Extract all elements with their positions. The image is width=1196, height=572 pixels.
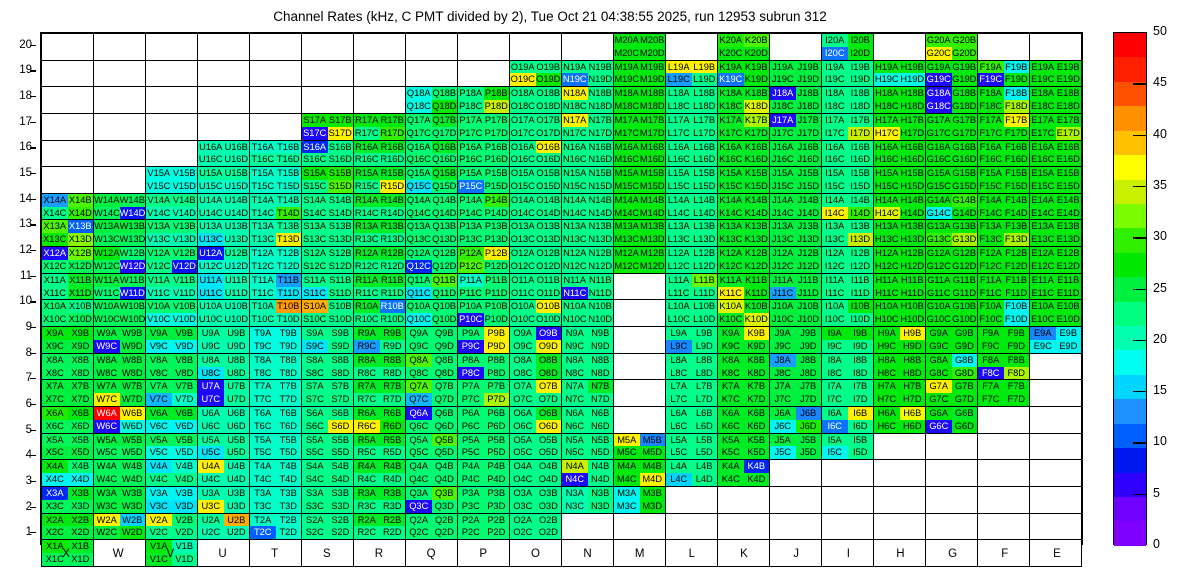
channel-W8D[interactable]: W8D	[120, 367, 146, 380]
channel-I15B[interactable]: I15B	[848, 167, 874, 180]
channel-Q2B[interactable]: Q2B	[432, 514, 458, 527]
heatmap-cell-U12[interactable]: U12AU12BU12CU12D	[198, 247, 250, 274]
channel-I18B[interactable]: I18B	[848, 87, 874, 100]
heatmap-cell-N6[interactable]: N6AN6BN6CN6D	[562, 406, 614, 433]
heatmap-cell-T8[interactable]: T8AT8BT8CT8D	[250, 353, 302, 380]
heatmap-cell-Q6[interactable]: Q6AQ6BQ6CQ6D	[406, 406, 458, 433]
heatmap-cell-G20[interactable]: G20AG20BG20CG20D	[926, 34, 978, 61]
channel-L18C[interactable]: L18C	[666, 100, 692, 113]
channel-W12B[interactable]: W12B	[120, 247, 146, 260]
heatmap-cell-I9[interactable]: I9AI9BI9CI9D	[822, 327, 874, 354]
channel-S3A[interactable]: S3A	[302, 487, 328, 500]
heatmap-cell-P13[interactable]: P13AP13BP13CP13D	[458, 220, 510, 247]
channel-T15B[interactable]: T15B	[276, 167, 302, 180]
heatmap-cell-L5[interactable]: L5AL5BL5CL5D	[666, 433, 718, 460]
channel-N15B[interactable]: N15B	[588, 167, 614, 180]
channel-H19B[interactable]: H19B	[900, 61, 926, 74]
heatmap-cell-N4[interactable]: N4AN4BN4CN4D	[562, 460, 614, 487]
heatmap-cell-J16[interactable]: J16AJ16BJ16CJ16D	[770, 140, 822, 167]
channel-H8D[interactable]: H8D	[900, 367, 926, 380]
channel-T14A[interactable]: T14A	[250, 194, 276, 207]
channel-G16A[interactable]: G16A	[926, 141, 952, 154]
channel-I16C[interactable]: I16C	[822, 153, 848, 166]
heatmap-cell-E12[interactable]: E12AE12BE12CE12D	[1030, 247, 1082, 274]
heatmap-cell-W12[interactable]: W12AW12BW12CW12D	[94, 247, 146, 274]
channel-Q12A[interactable]: Q12A	[406, 247, 432, 260]
channel-E15C[interactable]: E15C	[1030, 180, 1056, 193]
channel-O13B[interactable]: O13B	[536, 220, 562, 233]
channel-S11A[interactable]: S11A	[302, 274, 328, 287]
channel-T12B[interactable]: T12B	[276, 247, 302, 260]
channel-F19C[interactable]: F19C	[978, 73, 1004, 86]
heatmap-cell-X2[interactable]: X2AX2BX2CX2D	[42, 513, 94, 540]
heatmap-cell-T6[interactable]: T6AT6BT6CT6D	[250, 406, 302, 433]
channel-X14D[interactable]: X14D	[68, 207, 94, 220]
heatmap-cell-S9[interactable]: S9AS9BS9CS9D	[302, 327, 354, 354]
channel-M12C[interactable]: M12C	[614, 260, 640, 273]
heatmap-cell-R20[interactable]	[354, 34, 406, 61]
heatmap-cell-K7[interactable]: K7AK7BK7CK7D	[718, 380, 770, 407]
channel-U14C[interactable]: U14C	[198, 207, 224, 220]
channel-R9C[interactable]: R9C	[354, 340, 380, 353]
channel-H16D[interactable]: H16D	[900, 153, 926, 166]
heatmap-cell-H20[interactable]	[874, 34, 926, 61]
channel-Q16A[interactable]: Q16A	[406, 141, 432, 154]
channel-E16B[interactable]: E16B	[1056, 141, 1082, 154]
channel-U13B[interactable]: U13B	[224, 220, 250, 233]
heatmap-cell-S16[interactable]: S16AS16BS16CS16D	[302, 140, 354, 167]
channel-H10C[interactable]: H10C	[874, 313, 900, 326]
channel-W14D[interactable]: W14D	[120, 207, 146, 220]
heatmap-cell-W17[interactable]	[94, 113, 146, 140]
channel-T6A[interactable]: T6A	[250, 407, 276, 420]
channel-H9D[interactable]: H9D	[900, 340, 926, 353]
channel-R5C[interactable]: R5C	[354, 446, 380, 459]
channel-R4C[interactable]: R4C	[354, 473, 380, 486]
channel-O9D[interactable]: O9D	[536, 340, 562, 353]
channel-Q10B[interactable]: Q10B	[432, 300, 458, 313]
channel-P17A[interactable]: P17A	[458, 114, 484, 127]
channel-Q8C[interactable]: Q8C	[406, 367, 432, 380]
channel-E16A[interactable]: E16A	[1030, 141, 1056, 154]
channel-G6C[interactable]: G6C	[926, 420, 952, 433]
channel-O14B[interactable]: O14B	[536, 194, 562, 207]
channel-V6B[interactable]: V6B	[172, 407, 198, 420]
channel-W9D[interactable]: W9D	[120, 340, 146, 353]
channel-N14A[interactable]: N14A	[562, 194, 588, 207]
channel-K20D[interactable]: K20D	[744, 47, 770, 60]
heatmap-cell-O16[interactable]: O16AO16BO16CO16D	[510, 140, 562, 167]
channel-S14A[interactable]: S14A	[302, 194, 328, 207]
channel-N12B[interactable]: N12B	[588, 247, 614, 260]
heatmap-cell-O15[interactable]: O15AO15BO15CO15D	[510, 167, 562, 194]
channel-L19D[interactable]: L19D	[692, 73, 718, 86]
channel-I6D[interactable]: I6D	[848, 420, 874, 433]
channel-E13A[interactable]: E13A	[1030, 220, 1056, 233]
heatmap-cell-E3[interactable]	[1030, 486, 1082, 513]
channel-S13B[interactable]: S13B	[328, 220, 354, 233]
heatmap-cell-E4[interactable]	[1030, 460, 1082, 487]
channel-H18D[interactable]: H18D	[900, 100, 926, 113]
channel-I17D[interactable]: I17D	[848, 127, 874, 140]
channel-O7B[interactable]: O7B	[536, 380, 562, 393]
channel-X4D[interactable]: X4D	[68, 473, 94, 486]
heatmap-cell-F9[interactable]: F9AF9BF9CF9D	[978, 327, 1030, 354]
channel-G16B[interactable]: G16B	[952, 141, 978, 154]
heatmap-cell-S10[interactable]: S10AS10BS10CS10D	[302, 300, 354, 327]
heatmap-cell-T13[interactable]: T13AT13BT13CT13D	[250, 220, 302, 247]
heatmap-cell-E20[interactable]	[1030, 34, 1082, 61]
channel-V12B[interactable]: V12B	[172, 247, 198, 260]
channel-U4D[interactable]: U4D	[224, 473, 250, 486]
channel-H11C[interactable]: H11C	[874, 287, 900, 300]
channel-P9B[interactable]: P9B	[484, 327, 510, 340]
channel-Q10A[interactable]: Q10A	[406, 300, 432, 313]
heatmap-cell-H7[interactable]: H7AH7BH7CH7D	[874, 380, 926, 407]
channel-P10B[interactable]: P10B	[484, 300, 510, 313]
channel-K9B[interactable]: K9B	[744, 327, 770, 340]
channel-T16C[interactable]: T16C	[250, 153, 276, 166]
heatmap-cell-Q19[interactable]	[406, 60, 458, 87]
channel-U2C[interactable]: U2C	[198, 526, 224, 539]
heatmap-cell-I4[interactable]	[822, 460, 874, 487]
channel-L14C[interactable]: L14C	[666, 207, 692, 220]
heatmap-cell-W16[interactable]	[94, 140, 146, 167]
channel-P8A[interactable]: P8A	[458, 354, 484, 367]
heatmap-cell-L18[interactable]: L18AL18BL18CL18D	[666, 87, 718, 114]
channel-V14C[interactable]: V14C	[146, 207, 172, 220]
channel-J16B[interactable]: J16B	[796, 141, 822, 154]
heatmap-cell-O3[interactable]: O3AO3BO3CO3D	[510, 486, 562, 513]
channel-N7D[interactable]: N7D	[588, 393, 614, 406]
channel-P14D[interactable]: P14D	[484, 207, 510, 220]
channel-V3A[interactable]: V3A	[146, 487, 172, 500]
channel-U3A[interactable]: U3A	[198, 487, 224, 500]
channel-L11C[interactable]: L11C	[666, 287, 692, 300]
channel-U15B[interactable]: U15B	[224, 167, 250, 180]
channel-F11B[interactable]: F11B	[1004, 274, 1030, 287]
channel-N13D[interactable]: N13D	[588, 233, 614, 246]
channel-Q5A[interactable]: Q5A	[406, 434, 432, 447]
channel-E18B[interactable]: E18B	[1056, 87, 1082, 100]
channel-H14C[interactable]: H14C	[874, 207, 900, 220]
channel-O8D[interactable]: O8D	[536, 367, 562, 380]
heatmap-cell-T4[interactable]: T4AT4BT4CT4D	[250, 460, 302, 487]
channel-G15A[interactable]: G15A	[926, 167, 952, 180]
channel-S3C[interactable]: S3C	[302, 500, 328, 513]
channel-N14B[interactable]: N14B	[588, 194, 614, 207]
heatmap-cell-O6[interactable]: O6AO6BO6CO6D	[510, 406, 562, 433]
channel-L6C[interactable]: L6C	[666, 420, 692, 433]
heatmap-cell-G16[interactable]: G16AG16BG16CG16D	[926, 140, 978, 167]
channel-O11C[interactable]: O11C	[510, 287, 536, 300]
channel-I5D[interactable]: I5D	[848, 446, 874, 459]
channel-K9D[interactable]: K9D	[744, 340, 770, 353]
channel-M5C[interactable]: M5C	[614, 446, 640, 459]
heatmap-cell-L3[interactable]	[666, 486, 718, 513]
channel-M15B[interactable]: M15B	[640, 167, 666, 180]
channel-N17D[interactable]: N17D	[588, 127, 614, 140]
heatmap-cell-E15[interactable]: E15AE15BE15CE15D	[1030, 167, 1082, 194]
channel-K19C[interactable]: K19C	[718, 73, 744, 86]
channel-G14B[interactable]: G14B	[952, 194, 978, 207]
channel-V4C[interactable]: V4C	[146, 473, 172, 486]
channel-L15A[interactable]: L15A	[666, 167, 692, 180]
channel-J17D[interactable]: J17D	[796, 127, 822, 140]
heatmap-cell-K20[interactable]: K20AK20BK20CK20D	[718, 34, 770, 61]
channel-E15D[interactable]: E15D	[1056, 180, 1082, 193]
heatmap-cell-H12[interactable]: H12AH12BH12CH12D	[874, 247, 926, 274]
heatmap-cell-L13[interactable]: L13AL13BL13CL13D	[666, 220, 718, 247]
channel-L12C[interactable]: L12C	[666, 260, 692, 273]
heatmap-cell-K9[interactable]: K9AK9BK9CK9D	[718, 327, 770, 354]
channel-O19D[interactable]: O19D	[536, 73, 562, 86]
heatmap-cell-K2[interactable]	[718, 513, 770, 540]
heatmap-cell-L2[interactable]	[666, 513, 718, 540]
heatmap-cell-J17[interactable]: J17AJ17BJ17CJ17D	[770, 113, 822, 140]
channel-Q3D[interactable]: Q3D	[432, 500, 458, 513]
channel-X3B[interactable]: X3B	[68, 487, 94, 500]
channel-K12C[interactable]: K12C	[718, 260, 744, 273]
heatmap-cell-M16[interactable]: M16AM16BM16CM16D	[614, 140, 666, 167]
channel-Q18D[interactable]: Q18D	[432, 100, 458, 113]
channel-U7C[interactable]: U7C	[198, 393, 224, 406]
channel-L19C[interactable]: L19C	[666, 73, 692, 86]
channel-G11D[interactable]: G11D	[952, 287, 978, 300]
channel-I14D[interactable]: I14D	[848, 207, 874, 220]
channel-M17C[interactable]: M17C	[614, 127, 640, 140]
heatmap-cell-L7[interactable]: L7AL7BL7CL7D	[666, 380, 718, 407]
heatmap-cell-N14[interactable]: N14AN14BN14CN14D	[562, 193, 614, 220]
channel-G6A[interactable]: G6A	[926, 407, 952, 420]
channel-N17B[interactable]: N17B	[588, 114, 614, 127]
channel-M17A[interactable]: M17A	[614, 114, 640, 127]
channel-J14B[interactable]: J14B	[796, 194, 822, 207]
channel-M3D[interactable]: M3D	[640, 500, 666, 513]
channel-L7A[interactable]: L7A	[666, 380, 692, 393]
channel-Q11B[interactable]: Q11B	[432, 274, 458, 287]
channel-E11A[interactable]: E11A	[1030, 274, 1056, 287]
channel-P17C[interactable]: P17C	[458, 127, 484, 140]
channel-T13B[interactable]: T13B	[276, 220, 302, 233]
channel-G20B[interactable]: G20B	[952, 34, 978, 47]
channel-K5A[interactable]: K5A	[718, 434, 744, 447]
heatmap-cell-I2[interactable]	[822, 513, 874, 540]
heatmap-cell-E19[interactable]: E19AE19BE19CE19D	[1030, 60, 1082, 87]
channel-U2A[interactable]: U2A	[198, 514, 224, 527]
heatmap-cell-H4[interactable]	[874, 460, 926, 487]
channel-R3B[interactable]: R3B	[380, 487, 406, 500]
channel-P12B[interactable]: P12B	[484, 247, 510, 260]
channel-R15B[interactable]: R15B	[380, 167, 406, 180]
channel-S5A[interactable]: S5A	[302, 434, 328, 447]
heatmap-cell-M18[interactable]: M18AM18BM18CM18D	[614, 87, 666, 114]
channel-Q2A[interactable]: Q2A	[406, 514, 432, 527]
heatmap-cell-Q7[interactable]: Q7AQ7BQ7CQ7D	[406, 380, 458, 407]
heatmap-cell-X15[interactable]	[42, 167, 94, 194]
heatmap-cell-R2[interactable]: R2AR2BR2CR2D	[354, 513, 406, 540]
channel-V10B[interactable]: V10B	[172, 300, 198, 313]
channel-U10D[interactable]: U10D	[224, 313, 250, 326]
channel-R16A[interactable]: R16A	[354, 141, 380, 154]
channel-G12D[interactable]: G12D	[952, 260, 978, 273]
channel-K7C[interactable]: K7C	[718, 393, 744, 406]
channel-G19B[interactable]: G19B	[952, 61, 978, 74]
channel-M14A[interactable]: M14A	[614, 194, 640, 207]
heatmap-cell-Q3[interactable]: Q3AQ3BQ3CQ3D	[406, 486, 458, 513]
channel-T2B[interactable]: T2B	[276, 514, 302, 527]
channel-F18B[interactable]: F18B	[1004, 87, 1030, 100]
channel-I6C[interactable]: I6C	[822, 420, 848, 433]
channel-H16B[interactable]: H16B	[900, 141, 926, 154]
channel-V10A[interactable]: V10A	[146, 300, 172, 313]
channel-S5D[interactable]: S5D	[328, 446, 354, 459]
channel-J19A[interactable]: J19A	[770, 61, 796, 74]
channel-K14A[interactable]: K14A	[718, 194, 744, 207]
channel-R16C[interactable]: R16C	[354, 153, 380, 166]
heatmap-cell-X5[interactable]: X5AX5BX5CX5D	[42, 433, 94, 460]
channel-K18D[interactable]: K18D	[744, 100, 770, 113]
channel-H16A[interactable]: H16A	[874, 141, 900, 154]
heatmap-cell-T15[interactable]: T15AT15BT15CT15D	[250, 167, 302, 194]
heatmap-cell-N11[interactable]: N11AN11BN11CN11D	[562, 273, 614, 300]
channel-X8A[interactable]: X8A	[42, 354, 68, 367]
heatmap-cell-R19[interactable]	[354, 60, 406, 87]
channel-P18A[interactable]: P18A	[458, 87, 484, 100]
channel-O19A[interactable]: O19A	[510, 61, 536, 74]
heatmap-cell-V15[interactable]: V15AV15BV15CV15D	[146, 167, 198, 194]
channel-X13B[interactable]: X13B	[68, 220, 94, 233]
channel-R9D[interactable]: R9D	[380, 340, 406, 353]
channel-N19B[interactable]: N19B	[588, 61, 614, 74]
channel-M16D[interactable]: M16D	[640, 153, 666, 166]
heatmap-cell-Q4[interactable]: Q4AQ4BQ4CQ4D	[406, 460, 458, 487]
channel-J5D[interactable]: J5D	[796, 446, 822, 459]
channel-U15C[interactable]: U15C	[198, 180, 224, 193]
channel-Q13A[interactable]: Q13A	[406, 220, 432, 233]
channel-L11D[interactable]: L11D	[692, 287, 718, 300]
heatmap-cell-R17[interactable]: R17AR17BR17CR17D	[354, 113, 406, 140]
channel-X3A[interactable]: X3A	[42, 487, 68, 500]
channel-T13C[interactable]: T13C	[250, 233, 276, 246]
channel-K15C[interactable]: K15C	[718, 180, 744, 193]
channel-X8B[interactable]: X8B	[68, 354, 94, 367]
channel-O18B[interactable]: O18B	[536, 87, 562, 100]
heatmap-cell-P8[interactable]: P8AP8BP8CP8D	[458, 353, 510, 380]
channel-O17D[interactable]: O17D	[536, 127, 562, 140]
channel-Q13C[interactable]: Q13C	[406, 233, 432, 246]
channel-Q2C[interactable]: Q2C	[406, 526, 432, 539]
channel-X4C[interactable]: X4C	[42, 473, 68, 486]
channel-U16B[interactable]: U16B	[224, 141, 250, 154]
channel-I20B[interactable]: I20B	[848, 34, 874, 47]
channel-L4B[interactable]: L4B	[692, 460, 718, 473]
channel-H6B[interactable]: H6B	[900, 407, 926, 420]
heatmap-cell-W3[interactable]: W3AW3BW3CW3D	[94, 486, 146, 513]
channel-H18B[interactable]: H18B	[900, 87, 926, 100]
channel-J5C[interactable]: J5C	[770, 446, 796, 459]
heatmap-cell-R5[interactable]: R5AR5BR5CR5D	[354, 433, 406, 460]
heatmap-cell-Q5[interactable]: Q5AQ5BQ5CQ5D	[406, 433, 458, 460]
channel-K13C[interactable]: K13C	[718, 233, 744, 246]
channel-I11D[interactable]: I11D	[848, 287, 874, 300]
channel-W9C[interactable]: W9C	[94, 340, 120, 353]
channel-S14D[interactable]: S14D	[328, 207, 354, 220]
heatmap-cell-I11[interactable]: I11AI11BI11CI11D	[822, 273, 874, 300]
heatmap-cell-M3[interactable]: M3AM3BM3CM3D	[614, 486, 666, 513]
heatmap-cell-T20[interactable]	[250, 34, 302, 61]
channel-K11B[interactable]: K11B	[744, 274, 770, 287]
heatmap-cell-T18[interactable]	[250, 87, 302, 114]
heatmap-cell-X13[interactable]: X13AX13BX13CX13D	[42, 220, 94, 247]
channel-V5B[interactable]: V5B	[172, 434, 198, 447]
channel-F15A[interactable]: F15A	[978, 167, 1004, 180]
channel-P4A[interactable]: P4A	[458, 460, 484, 473]
channel-I18A[interactable]: I18A	[822, 87, 848, 100]
heatmap-cell-U2[interactable]: U2AU2BU2CU2D	[198, 513, 250, 540]
channel-I14B[interactable]: I14B	[848, 194, 874, 207]
channel-Q8D[interactable]: Q8D	[432, 367, 458, 380]
channel-R14B[interactable]: R14B	[380, 194, 406, 207]
channel-R8C[interactable]: R8C	[354, 367, 380, 380]
channel-R12A[interactable]: R12A	[354, 247, 380, 260]
channel-P2A[interactable]: P2A	[458, 514, 484, 527]
channel-N6D[interactable]: N6D	[588, 420, 614, 433]
heatmap-cell-W15[interactable]	[94, 167, 146, 194]
heatmap-cell-U13[interactable]: U13AU13BU13CU13D	[198, 220, 250, 247]
channel-L14A[interactable]: L14A	[666, 194, 692, 207]
channel-S4D[interactable]: S4D	[328, 473, 354, 486]
channel-E9B[interactable]: E9B	[1056, 327, 1082, 340]
channel-X11D[interactable]: X11D	[68, 287, 94, 300]
heatmap-cell-M7[interactable]	[614, 380, 666, 407]
channel-P9C[interactable]: P9C	[458, 340, 484, 353]
heatmap-cell-H6[interactable]: H6AH6BH6CH6D	[874, 406, 926, 433]
heatmap-cell-E6[interactable]	[1030, 406, 1082, 433]
channel-M3A[interactable]: M3A	[614, 487, 640, 500]
channel-R10C[interactable]: R10C	[354, 313, 380, 326]
channel-R8D[interactable]: R8D	[380, 367, 406, 380]
channel-J18B[interactable]: J18B	[796, 87, 822, 100]
channel-N10B[interactable]: N10B	[588, 300, 614, 313]
channel-S16B[interactable]: S16B	[328, 141, 354, 154]
channel-T16D[interactable]: T16D	[276, 153, 302, 166]
channel-S14C[interactable]: S14C	[302, 207, 328, 220]
channel-Q9C[interactable]: Q9C	[406, 340, 432, 353]
channel-H15D[interactable]: H15D	[900, 180, 926, 193]
heatmap-cell-U7[interactable]: U7AU7BU7CU7D	[198, 380, 250, 407]
channel-F17A[interactable]: F17A	[978, 114, 1004, 127]
channel-O5D[interactable]: O5D	[536, 446, 562, 459]
channel-E17B[interactable]: E17B	[1056, 114, 1082, 127]
heatmap-cell-N18[interactable]: N18AN18BN18CN18D	[562, 87, 614, 114]
channel-S9B[interactable]: S9B	[328, 327, 354, 340]
channel-O5A[interactable]: O5A	[510, 434, 536, 447]
heatmap-cell-O14[interactable]: O14AO14BO14CO14D	[510, 193, 562, 220]
channel-S4A[interactable]: S4A	[302, 460, 328, 473]
channel-V8A[interactable]: V8A	[146, 354, 172, 367]
heatmap-cell-M20[interactable]: M20AM20BM20CM20D	[614, 34, 666, 61]
channel-F13C[interactable]: F13C	[978, 233, 1004, 246]
channel-E11C[interactable]: E11C	[1030, 287, 1056, 300]
heatmap-cell-N10[interactable]: N10AN10BN10CN10D	[562, 300, 614, 327]
channel-W14C[interactable]: W14C	[94, 207, 120, 220]
channel-H6C[interactable]: H6C	[874, 420, 900, 433]
channel-H19D[interactable]: H19D	[900, 73, 926, 86]
channel-L7D[interactable]: L7D	[692, 393, 718, 406]
channel-X5B[interactable]: X5B	[68, 434, 94, 447]
channel-W4D[interactable]: W4D	[120, 473, 146, 486]
